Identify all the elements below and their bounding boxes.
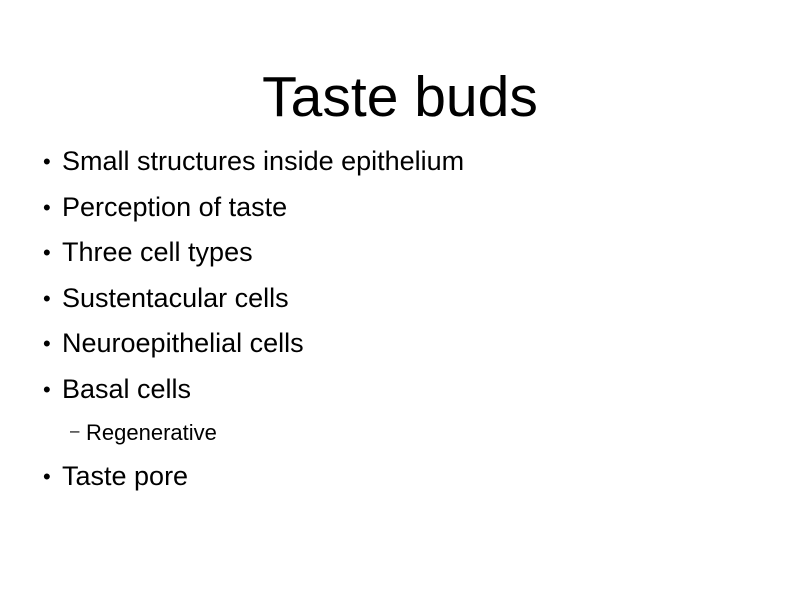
list-item[interactable]: –Regenerative (40, 412, 760, 454)
list-item-label: Taste pore (62, 454, 188, 500)
dot-bullet-icon: • (43, 139, 59, 185)
list-item[interactable]: •Basal cells (40, 367, 760, 413)
list-item-label: Perception of taste (62, 185, 287, 231)
dot-bullet-icon: • (43, 321, 59, 367)
list-item-label: Three cell types (62, 230, 253, 276)
bullet-list: •Small structures inside epithelium•Perc… (40, 139, 760, 500)
slide-canvas: Taste buds •Small structures inside epit… (0, 0, 800, 600)
dot-bullet-icon: • (43, 185, 59, 231)
dot-bullet-icon: • (43, 454, 59, 500)
dot-bullet-icon: • (43, 276, 59, 322)
page-title: Taste buds (262, 68, 538, 128)
slide-body-placeholder[interactable]: •Small structures inside epithelium•Perc… (40, 139, 760, 500)
list-item[interactable]: •Perception of taste (40, 185, 760, 231)
dash-bullet-icon: – (70, 412, 86, 450)
dot-bullet-icon: • (43, 230, 59, 276)
list-item-label: Regenerative (86, 412, 217, 454)
list-item-label: Neuroepithelial cells (62, 321, 304, 367)
list-item-label: Basal cells (62, 367, 191, 413)
list-item[interactable]: •Sustentacular cells (40, 276, 760, 322)
list-item[interactable]: •Three cell types (40, 230, 760, 276)
list-item-label: Sustentacular cells (62, 276, 289, 322)
list-item[interactable]: •Small structures inside epithelium (40, 139, 760, 185)
list-item[interactable]: •Taste pore (40, 454, 760, 500)
dot-bullet-icon: • (43, 367, 59, 413)
list-item[interactable]: •Neuroepithelial cells (40, 321, 760, 367)
list-item-label: Small structures inside epithelium (62, 139, 464, 185)
